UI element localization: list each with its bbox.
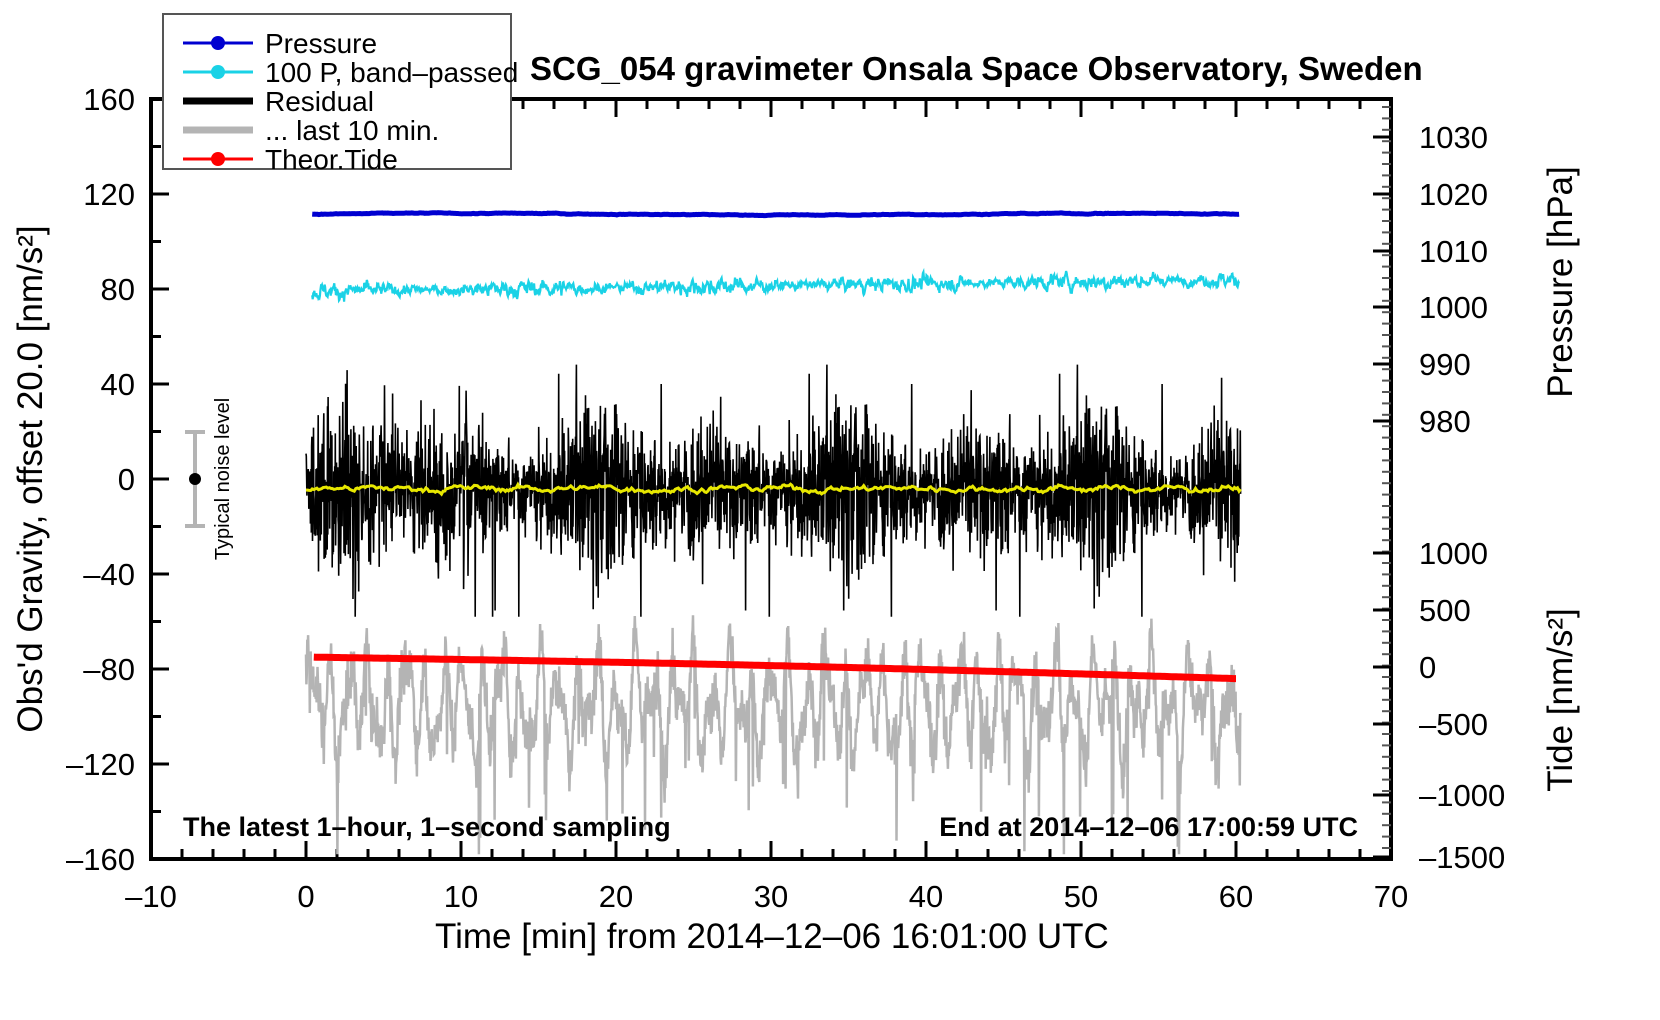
tide-tick-label: –1000 xyxy=(1419,778,1505,813)
y-tick-label: –40 xyxy=(83,557,135,592)
y-tick-label: 160 xyxy=(83,82,135,117)
trace-pressure xyxy=(312,213,1239,216)
y-tick-label: –120 xyxy=(66,747,135,782)
x-tick-label: 60 xyxy=(1219,879,1253,914)
pressure-tick-label: 990 xyxy=(1419,347,1471,382)
tide-tick-label: 1000 xyxy=(1419,536,1488,571)
y-axis-right-pressure-title: Pressure [hPa] xyxy=(1541,166,1580,398)
y-tick-label: 80 xyxy=(101,272,135,307)
x-tick-label: 70 xyxy=(1374,879,1408,914)
pressure-tick-label: 1030 xyxy=(1419,120,1488,155)
x-tick-label: –10 xyxy=(125,879,177,914)
x-tick-label: 40 xyxy=(909,879,943,914)
pressure-tick-label: 1020 xyxy=(1419,177,1488,212)
x-tick-label: 20 xyxy=(599,879,633,914)
typical-noise-level-label: Typical noise level xyxy=(212,398,234,560)
y-axis-right-tide-title: Tide [nm/s²] xyxy=(1541,608,1580,791)
y-axis-left-title: Obs'd Gravity, offset 20.0 [nm/s²] xyxy=(11,225,50,732)
legend-item-label: 100 P, band–passed xyxy=(265,57,518,88)
chart-canvas: SCG_054 gravimeter Onsala Space Observat… xyxy=(0,0,1660,1020)
legend-item-label: Theor.Tide xyxy=(265,144,398,175)
pressure-tick-label: 1010 xyxy=(1419,234,1488,269)
page-title: SCG_054 gravimeter Onsala Space Observat… xyxy=(530,50,1423,87)
pressure-tick-label: 1000 xyxy=(1419,290,1488,325)
legend[interactable]: Pressure100 P, band–passedResidual... la… xyxy=(163,14,518,175)
tide-tick-label: 500 xyxy=(1419,593,1471,628)
legend-item-label: ... last 10 min. xyxy=(265,115,439,146)
sampling-note: The latest 1–hour, 1–second sampling xyxy=(183,812,671,842)
legend-item-label: Pressure xyxy=(265,28,377,59)
x-tick-label: 50 xyxy=(1064,879,1098,914)
y-tick-label: 40 xyxy=(101,367,135,402)
pressure-tick-label: 980 xyxy=(1419,404,1471,439)
x-axis-title: Time [min] from 2014–12–06 16:01:00 UTC xyxy=(435,917,1109,956)
end-time-note: End at 2014–12–06 17:00:59 UTC xyxy=(939,812,1358,842)
y-tick-label: 120 xyxy=(83,177,135,212)
x-tick-label: 30 xyxy=(754,879,788,914)
gravimeter-plot: SCG_054 gravimeter Onsala Space Observat… xyxy=(0,0,1660,1020)
tide-tick-label: 0 xyxy=(1419,650,1436,685)
y-tick-label: –160 xyxy=(66,842,135,877)
tide-tick-label: –500 xyxy=(1419,707,1488,742)
y-tick-label: 0 xyxy=(118,462,135,497)
x-tick-label: 0 xyxy=(297,879,314,914)
x-tick-label: 10 xyxy=(444,879,478,914)
legend-item-label: Residual xyxy=(265,86,374,117)
tide-tick-label: –1500 xyxy=(1419,840,1505,875)
y-tick-label: –80 xyxy=(83,652,135,687)
